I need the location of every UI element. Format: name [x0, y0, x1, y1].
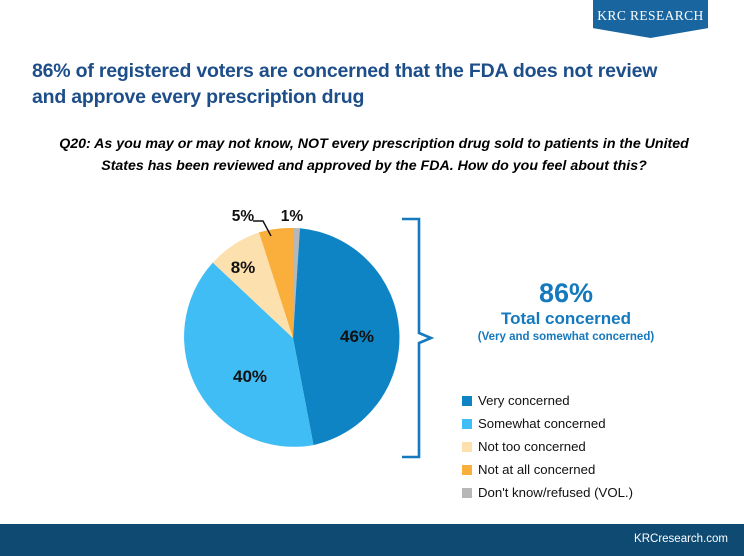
footer-bar: KRCresearch.com: [0, 524, 744, 556]
pie-label-not-at-all-concerned: 5%: [232, 208, 255, 225]
bracket-path: [402, 219, 431, 457]
legend-item-dont-know[interactable]: Don't know/refused (VOL.): [462, 481, 692, 504]
legend-swatch-icon: [462, 419, 472, 429]
legend-swatch-icon: [462, 488, 472, 498]
legend-item-very-concerned[interactable]: Very concerned: [462, 389, 692, 412]
legend-item-somewhat-concerned[interactable]: Somewhat concerned: [462, 412, 692, 435]
legend-label: Very concerned: [478, 393, 570, 408]
page-title: 86% of registered voters are concerned t…: [32, 58, 692, 110]
pie-label-not-too-concerned: 8%: [231, 258, 256, 277]
legend-label: Don't know/refused (VOL.): [478, 485, 633, 500]
krc-research-logo: KRC RESEARCH: [593, 0, 708, 38]
footer-website-text: KRCresearch.com: [634, 533, 728, 545]
legend-item-not-too-concerned[interactable]: Not too concerned: [462, 435, 692, 458]
legend-item-not-at-all-concerned[interactable]: Not at all concerned: [462, 458, 692, 481]
bracket-svg: [398, 210, 444, 466]
logo-text: KRC RESEARCH: [597, 8, 703, 24]
legend-swatch-icon: [462, 396, 472, 406]
legend-label: Not at all concerned: [478, 462, 595, 477]
pie-label-dont-know: 1%: [281, 208, 304, 225]
pie-label-very-concerned: 46%: [340, 327, 374, 346]
total-concerned-bracket: [398, 210, 444, 466]
total-concerned-sublabel: (Very and somewhat concerned): [443, 329, 689, 345]
legend-label: Somewhat concerned: [478, 416, 606, 431]
legend-label: Not too concerned: [478, 439, 586, 454]
legend-swatch-icon: [462, 442, 472, 452]
total-concerned-label: Total concerned: [443, 308, 689, 329]
chart-legend: Very concerned Somewhat concerned Not to…: [462, 389, 692, 504]
total-concerned-value: 86%: [443, 278, 689, 308]
pie-label-somewhat-concerned: 40%: [233, 367, 267, 386]
survey-question-text: Q20: As you may or may not know, NOT eve…: [36, 133, 712, 177]
total-concerned-callout: 86% Total concerned (Very and somewhat c…: [443, 278, 689, 345]
legend-swatch-icon: [462, 465, 472, 475]
